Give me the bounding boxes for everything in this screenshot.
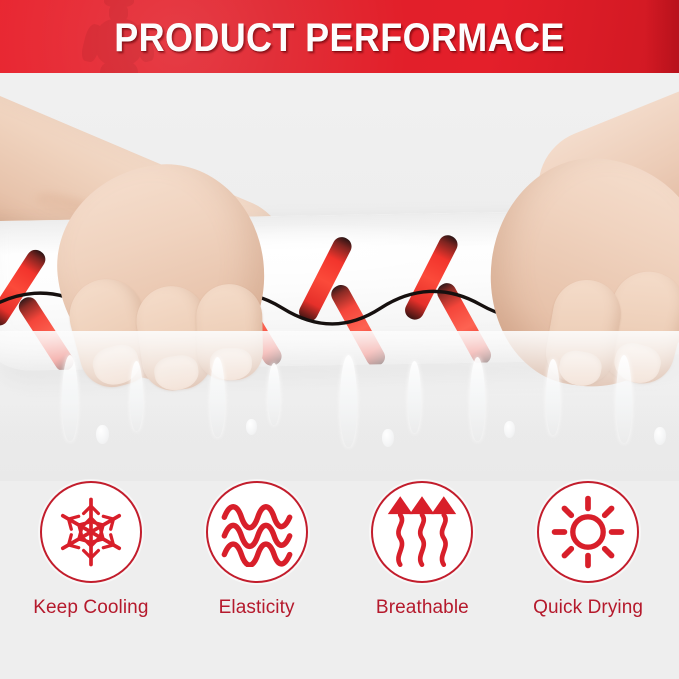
water-drip [130, 361, 143, 431]
feature-label: Quick Drying [533, 597, 643, 619]
water-droplet [504, 421, 515, 438]
feature-icon-circle [371, 481, 473, 583]
water-drip [210, 357, 225, 437]
page-title: PRODUCT PERFORMACE [34, 17, 645, 59]
rising-arrows-icon [387, 493, 457, 571]
product-photo [0, 73, 679, 481]
water-drip [616, 355, 632, 443]
feature-elasticity[interactable]: Elasticity [182, 481, 332, 619]
sun-icon [550, 494, 626, 570]
snowflake-icon [54, 495, 128, 569]
water-droplet [654, 427, 666, 445]
feature-label: Breathable [376, 597, 469, 619]
feature-icon-circle [537, 481, 639, 583]
water-drip [340, 355, 357, 447]
feature-label: Elasticity [219, 597, 295, 619]
feature-icon-circle [206, 481, 308, 583]
feature-keep-cooling[interactable]: Keep Cooling [16, 481, 166, 619]
banner-right-shadow [645, 0, 679, 73]
product-performance-infographic: PRODUCT PERFORMACE [0, 0, 679, 679]
header-banner: PRODUCT PERFORMACE [0, 0, 679, 73]
water-drip [470, 357, 485, 441]
water-drip [268, 363, 280, 425]
feature-label: Keep Cooling [33, 597, 148, 619]
water-droplet [96, 425, 109, 444]
feature-list: Keep Cooling Elasticity [0, 481, 679, 679]
feature-breathable[interactable]: Breathable [347, 481, 497, 619]
water-droplet [382, 429, 394, 447]
wavy-lines-icon [218, 497, 296, 567]
water-drip [546, 359, 560, 435]
water-drip [408, 361, 421, 433]
feature-quick-drying[interactable]: Quick Drying [513, 481, 663, 619]
feature-icon-circle [40, 481, 142, 583]
water-droplet [246, 419, 257, 435]
water-drip [62, 355, 78, 441]
